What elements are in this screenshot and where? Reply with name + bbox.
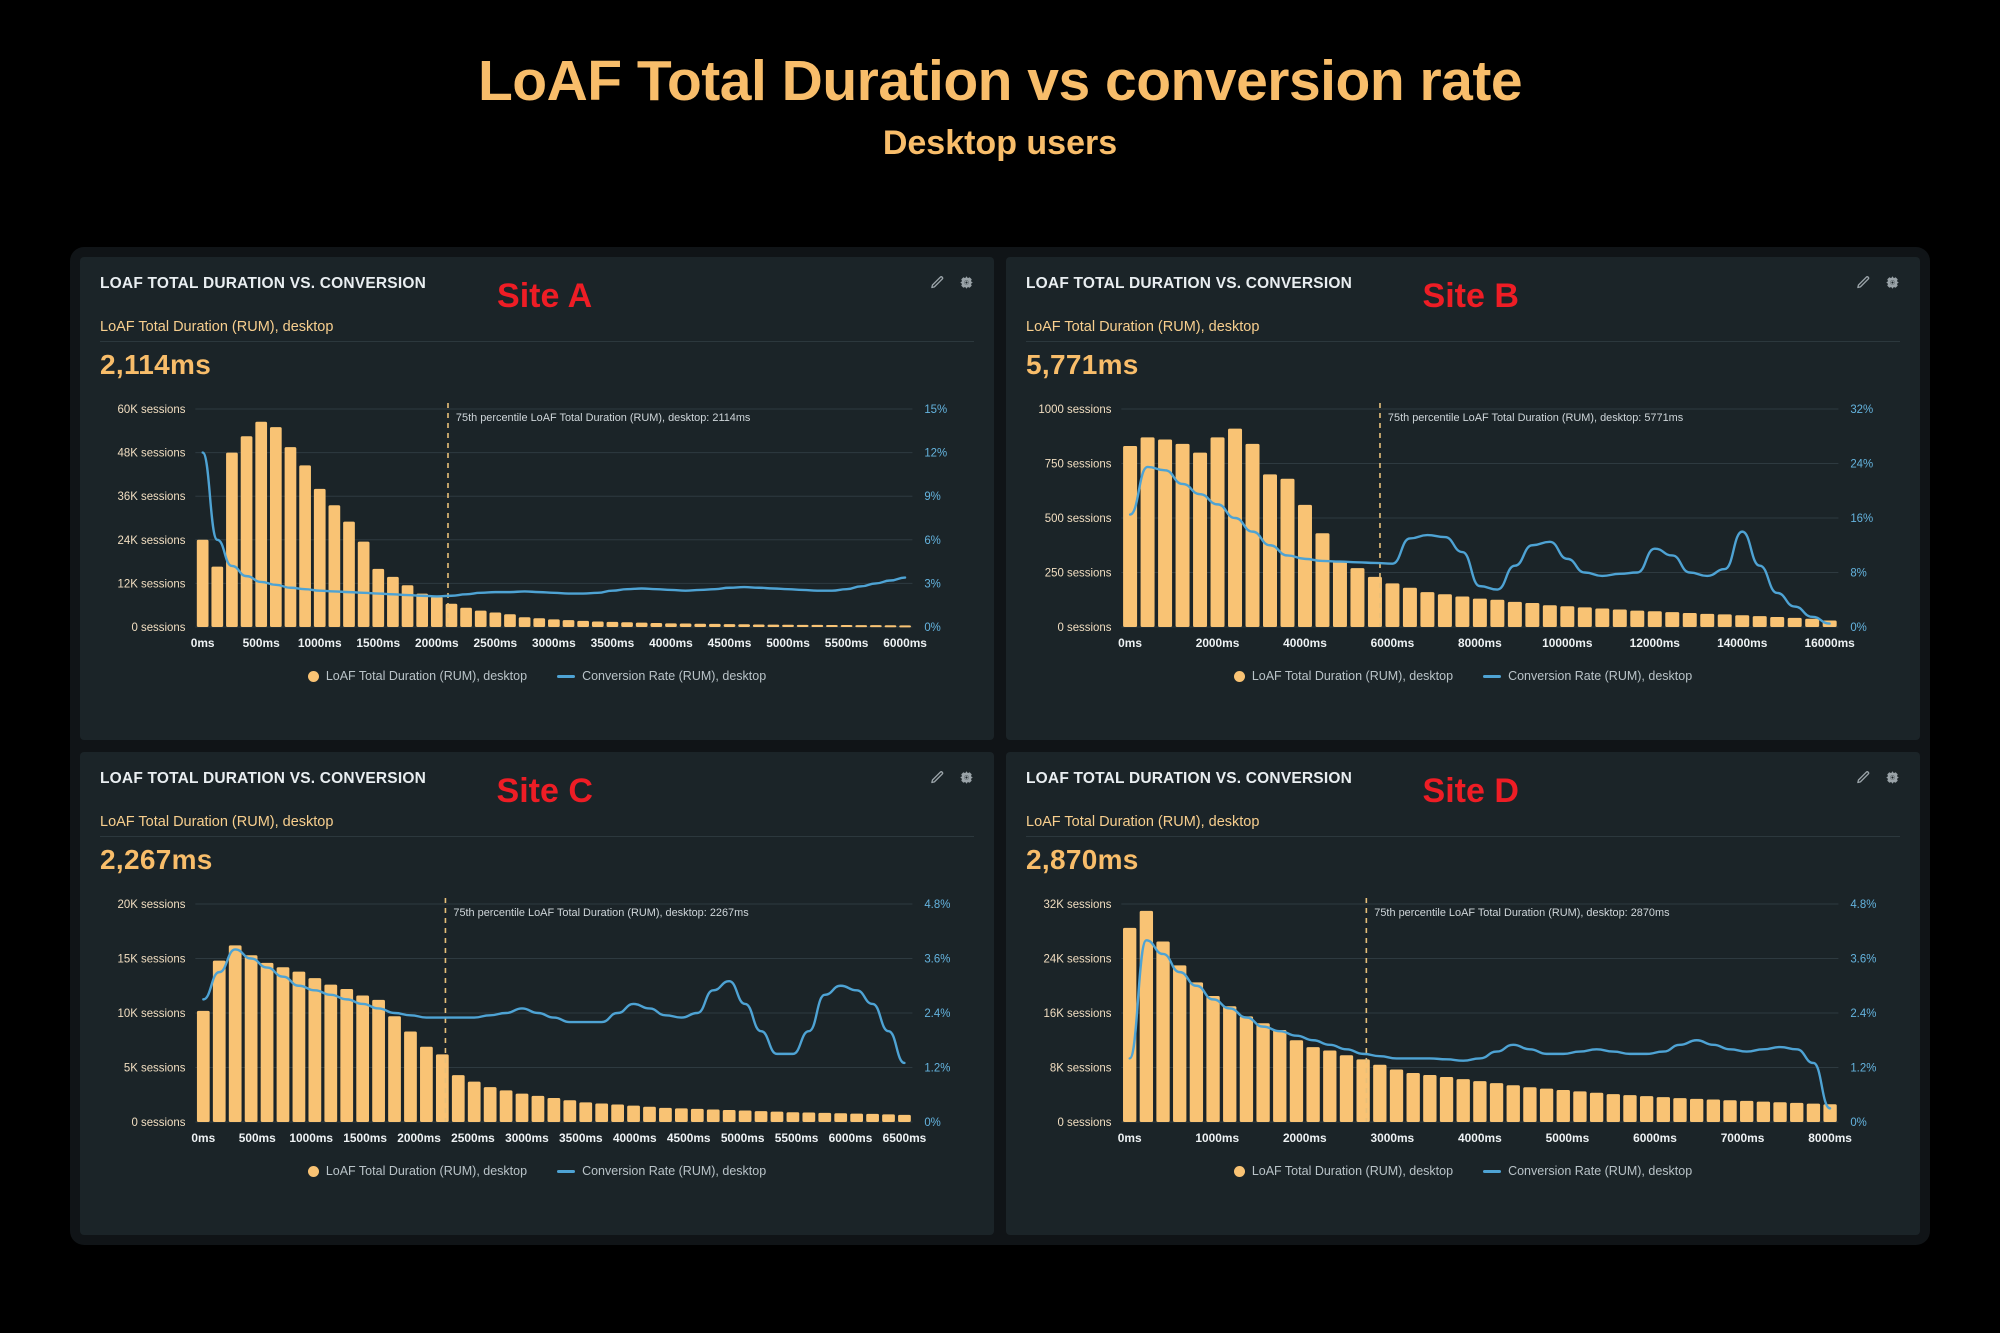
legend-dot-icon: [308, 671, 319, 682]
legend-item-bars: LoAF Total Duration (RUM), desktop: [1234, 1164, 1453, 1178]
svg-text:12K sessions: 12K sessions: [118, 578, 186, 590]
metric-divider: [1026, 341, 1900, 342]
svg-text:16000ms: 16000ms: [1805, 636, 1856, 650]
svg-text:32K sessions: 32K sessions: [1044, 899, 1112, 911]
svg-text:1500ms: 1500ms: [343, 1131, 387, 1145]
svg-text:1.2%: 1.2%: [924, 1062, 950, 1074]
svg-text:750 sessions: 750 sessions: [1045, 458, 1112, 470]
svg-text:8%: 8%: [1850, 567, 1867, 579]
svg-text:15K sessions: 15K sessions: [118, 953, 186, 965]
svg-text:24%: 24%: [1850, 458, 1873, 470]
svg-text:8K sessions: 8K sessions: [1050, 1062, 1112, 1074]
legend-line-icon: [1483, 1170, 1501, 1173]
svg-text:1000ms: 1000ms: [1195, 1131, 1239, 1145]
legend-label-bars: LoAF Total Duration (RUM), desktop: [326, 669, 527, 683]
metric-divider: [100, 836, 974, 837]
svg-text:3000ms: 3000ms: [505, 1131, 549, 1145]
legend-line-icon: [557, 1170, 575, 1173]
svg-text:3000ms: 3000ms: [532, 636, 576, 650]
svg-text:5000ms: 5000ms: [766, 636, 810, 650]
svg-text:3000ms: 3000ms: [1371, 1131, 1415, 1145]
panel-header: LoAF Total Duration vs. conversion: [100, 770, 974, 804]
gear-icon[interactable]: [959, 770, 974, 785]
metric-value: 5,771ms: [1026, 349, 1900, 381]
svg-text:4500ms: 4500ms: [667, 1131, 711, 1145]
panel-title: LoAF Total Duration vs. conversion: [1026, 275, 1352, 293]
svg-text:75th percentile LoAF Total Dur: 75th percentile LoAF Total Duration (RUM…: [453, 907, 749, 919]
svg-text:1000ms: 1000ms: [289, 1131, 333, 1145]
svg-text:3.6%: 3.6%: [1850, 953, 1876, 965]
panel-header: LoAF Total Duration vs. conversion: [1026, 770, 1900, 804]
pencil-icon[interactable]: [930, 275, 945, 290]
legend-label-line: Conversion Rate (RUM), desktop: [1508, 669, 1692, 683]
svg-text:6000ms: 6000ms: [1371, 636, 1415, 650]
panel-site-b: LoAF Total Duration vs. conversion Site …: [1006, 257, 1920, 740]
svg-text:10000ms: 10000ms: [1542, 636, 1593, 650]
svg-text:75th percentile LoAF Total Dur: 75th percentile LoAF Total Duration (RUM…: [1388, 412, 1684, 424]
svg-text:1000ms: 1000ms: [298, 636, 342, 650]
metric-value: 2,267ms: [100, 844, 974, 876]
svg-text:8000ms: 8000ms: [1458, 636, 1502, 650]
svg-text:6000ms: 6000ms: [829, 1131, 873, 1145]
legend-item-line: Conversion Rate (RUM), desktop: [1483, 669, 1692, 683]
svg-text:36K sessions: 36K sessions: [118, 491, 186, 503]
svg-text:4000ms: 4000ms: [1458, 1131, 1502, 1145]
svg-text:2500ms: 2500ms: [451, 1131, 495, 1145]
panel-actions: [930, 770, 974, 785]
metric-value: 2,870ms: [1026, 844, 1900, 876]
svg-text:24K sessions: 24K sessions: [118, 535, 186, 547]
svg-text:0 sessions: 0 sessions: [1057, 1117, 1111, 1129]
svg-text:6000ms: 6000ms: [883, 636, 927, 650]
legend-label-bars: LoAF Total Duration (RUM), desktop: [326, 1164, 527, 1178]
legend-line-icon: [1483, 675, 1501, 678]
legend-line-icon: [557, 675, 575, 678]
svg-text:8000ms: 8000ms: [1808, 1131, 1852, 1145]
svg-text:3500ms: 3500ms: [559, 1131, 603, 1145]
svg-text:0ms: 0ms: [1118, 636, 1142, 650]
panel-site-d: LoAF Total Duration vs. conversion Site …: [1006, 752, 1920, 1235]
svg-text:2000ms: 2000ms: [415, 636, 459, 650]
panel-actions: [930, 275, 974, 290]
svg-text:12%: 12%: [924, 448, 947, 460]
svg-text:15%: 15%: [924, 404, 947, 416]
svg-text:9%: 9%: [924, 491, 941, 503]
svg-text:16K sessions: 16K sessions: [1044, 1008, 1112, 1020]
metric-value: 2,114ms: [100, 349, 974, 381]
svg-text:75th percentile LoAF Total Dur: 75th percentile LoAF Total Duration (RUM…: [1374, 907, 1670, 919]
legend-item-bars: LoAF Total Duration (RUM), desktop: [308, 1164, 527, 1178]
legend-dot-icon: [1234, 671, 1245, 682]
svg-text:500ms: 500ms: [243, 636, 280, 650]
chart-legend: LoAF Total Duration (RUM), desktop Conve…: [1026, 1164, 1900, 1178]
svg-text:32%: 32%: [1850, 404, 1873, 416]
svg-text:0 sessions: 0 sessions: [131, 622, 185, 634]
dashboard-grid: LoAF Total Duration vs. conversion Site …: [70, 247, 1930, 1245]
legend-label-line: Conversion Rate (RUM), desktop: [1508, 1164, 1692, 1178]
svg-text:5500ms: 5500ms: [775, 1131, 819, 1145]
svg-text:5000ms: 5000ms: [721, 1131, 765, 1145]
pencil-icon[interactable]: [1856, 770, 1871, 785]
svg-text:5500ms: 5500ms: [825, 636, 869, 650]
page-subtitle: Desktop users: [0, 124, 2000, 163]
gear-icon[interactable]: [959, 275, 974, 290]
svg-text:0%: 0%: [1850, 1117, 1867, 1129]
svg-text:0ms: 0ms: [1118, 1131, 1142, 1145]
panel-header: LoAF Total Duration vs. conversion: [100, 275, 974, 309]
page-root: LoAF Total Duration vs conversion rate D…: [0, 0, 2000, 1333]
svg-text:0ms: 0ms: [191, 636, 215, 650]
svg-text:75th percentile LoAF Total Dur: 75th percentile LoAF Total Duration (RUM…: [456, 412, 751, 424]
svg-text:0 sessions: 0 sessions: [131, 1117, 185, 1129]
svg-text:0 sessions: 0 sessions: [1057, 622, 1111, 634]
svg-text:1000 sessions: 1000 sessions: [1038, 404, 1111, 416]
svg-text:4000ms: 4000ms: [613, 1131, 657, 1145]
chart: 0 sessions8K sessions16K sessions24K ses…: [1026, 888, 1900, 1156]
svg-text:12000ms: 12000ms: [1630, 636, 1681, 650]
svg-text:5K sessions: 5K sessions: [124, 1062, 186, 1074]
legend-item-line: Conversion Rate (RUM), desktop: [1483, 1164, 1692, 1178]
svg-text:3.6%: 3.6%: [924, 953, 950, 965]
svg-text:7000ms: 7000ms: [1721, 1131, 1765, 1145]
legend-item-line: Conversion Rate (RUM), desktop: [557, 1164, 766, 1178]
svg-text:10K sessions: 10K sessions: [118, 1008, 186, 1020]
svg-text:2.4%: 2.4%: [924, 1008, 950, 1020]
gear-icon[interactable]: [1885, 275, 1900, 290]
svg-text:4500ms: 4500ms: [708, 636, 752, 650]
svg-text:6%: 6%: [924, 535, 941, 547]
panel-title: LoAF Total Duration vs. conversion: [100, 770, 426, 788]
svg-text:3500ms: 3500ms: [591, 636, 635, 650]
svg-text:250 sessions: 250 sessions: [1045, 567, 1112, 579]
svg-text:0%: 0%: [924, 1117, 941, 1129]
svg-text:1500ms: 1500ms: [356, 636, 400, 650]
metric-divider: [100, 341, 974, 342]
legend-item-bars: LoAF Total Duration (RUM), desktop: [1234, 669, 1453, 683]
legend-item-bars: LoAF Total Duration (RUM), desktop: [308, 669, 527, 683]
metric-label: LoAF Total Duration (RUM), desktop: [100, 814, 974, 830]
metric-label: LoAF Total Duration (RUM), desktop: [100, 319, 974, 335]
panel-actions: [1856, 770, 1900, 785]
svg-text:20K sessions: 20K sessions: [118, 899, 186, 911]
chart-legend: LoAF Total Duration (RUM), desktop Conve…: [100, 669, 974, 683]
metric-divider: [1026, 836, 1900, 837]
svg-text:4.8%: 4.8%: [924, 899, 950, 911]
svg-text:2000ms: 2000ms: [1283, 1131, 1327, 1145]
legend-label-line: Conversion Rate (RUM), desktop: [582, 669, 766, 683]
page-title: LoAF Total Duration vs conversion rate: [0, 52, 2000, 112]
svg-text:2.4%: 2.4%: [1850, 1008, 1876, 1020]
metric-label: LoAF Total Duration (RUM), desktop: [1026, 319, 1900, 335]
svg-text:1.2%: 1.2%: [1850, 1062, 1876, 1074]
svg-text:0%: 0%: [924, 622, 941, 634]
svg-text:500 sessions: 500 sessions: [1045, 513, 1112, 525]
legend-dot-icon: [1234, 1166, 1245, 1177]
svg-text:2500ms: 2500ms: [474, 636, 518, 650]
svg-text:6000ms: 6000ms: [1633, 1131, 1677, 1145]
page-header: LoAF Total Duration vs conversion rate D…: [0, 0, 2000, 163]
svg-text:16%: 16%: [1850, 513, 1873, 525]
svg-text:24K sessions: 24K sessions: [1044, 953, 1112, 965]
pencil-icon[interactable]: [930, 770, 945, 785]
chart: 0 sessions250 sessions500 sessions750 se…: [1026, 393, 1900, 661]
pencil-icon[interactable]: [1856, 275, 1871, 290]
panel-title: LoAF Total Duration vs. conversion: [1026, 770, 1352, 788]
legend-label-bars: LoAF Total Duration (RUM), desktop: [1252, 669, 1453, 683]
svg-text:4000ms: 4000ms: [1283, 636, 1327, 650]
metric-label: LoAF Total Duration (RUM), desktop: [1026, 814, 1900, 830]
panel-site-c: LoAF Total Duration vs. conversion Site …: [80, 752, 994, 1235]
svg-text:6500ms: 6500ms: [883, 1131, 927, 1145]
chart-legend: LoAF Total Duration (RUM), desktop Conve…: [1026, 669, 1900, 683]
legend-dot-icon: [308, 1166, 319, 1177]
chart: 0 sessions12K sessions24K sessions36K se…: [100, 393, 974, 661]
panel-header: LoAF Total Duration vs. conversion: [1026, 275, 1900, 309]
svg-text:2000ms: 2000ms: [397, 1131, 441, 1145]
svg-text:5000ms: 5000ms: [1546, 1131, 1590, 1145]
svg-text:60K sessions: 60K sessions: [118, 404, 186, 416]
svg-text:4.8%: 4.8%: [1850, 899, 1876, 911]
svg-text:0%: 0%: [1850, 622, 1867, 634]
svg-text:4000ms: 4000ms: [649, 636, 693, 650]
panel-site-a: LoAF Total Duration vs. conversion Site …: [80, 257, 994, 740]
chart: 0 sessions5K sessions10K sessions15K ses…: [100, 888, 974, 1156]
svg-text:0ms: 0ms: [191, 1131, 215, 1145]
legend-label-line: Conversion Rate (RUM), desktop: [582, 1164, 766, 1178]
legend-item-line: Conversion Rate (RUM), desktop: [557, 669, 766, 683]
panel-title: LoAF Total Duration vs. conversion: [100, 275, 426, 293]
svg-text:2000ms: 2000ms: [1196, 636, 1240, 650]
svg-text:3%: 3%: [924, 578, 941, 590]
panel-actions: [1856, 275, 1900, 290]
svg-text:48K sessions: 48K sessions: [118, 448, 186, 460]
legend-label-bars: LoAF Total Duration (RUM), desktop: [1252, 1164, 1453, 1178]
gear-icon[interactable]: [1885, 770, 1900, 785]
chart-legend: LoAF Total Duration (RUM), desktop Conve…: [100, 1164, 974, 1178]
svg-text:14000ms: 14000ms: [1717, 636, 1768, 650]
svg-text:500ms: 500ms: [239, 1131, 276, 1145]
